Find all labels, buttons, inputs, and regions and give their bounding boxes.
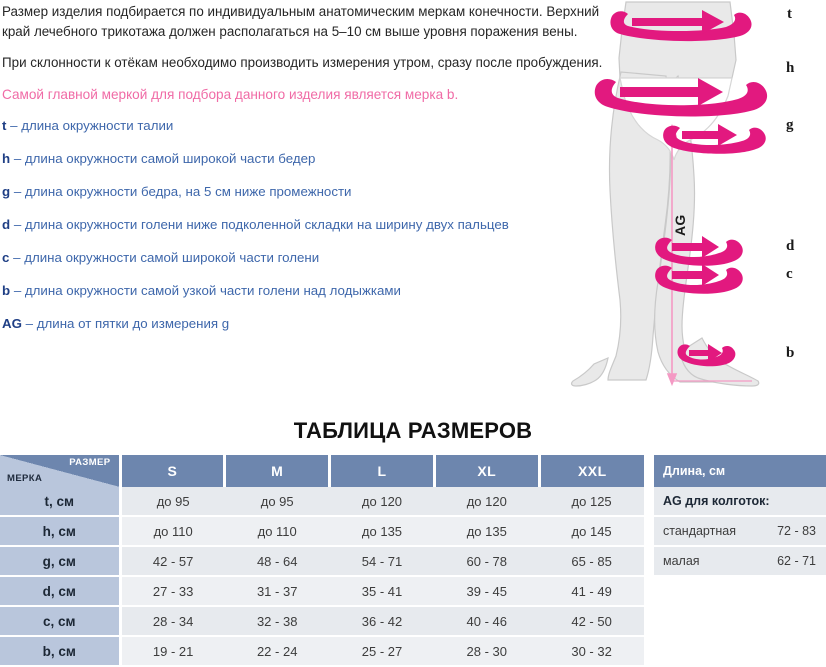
size-table-corner-cell: РАЗМЕР МЕРКА <box>0 455 120 487</box>
size-guide-page: Размер изделия подбирается по индивидуал… <box>0 0 826 656</box>
legend-key-t: t <box>2 118 6 133</box>
cell-g-l: 54 - 71 <box>330 546 435 576</box>
legend-key-c: c <box>2 250 9 265</box>
legend-key-b: b <box>2 283 10 298</box>
figure-label-d: d <box>786 238 794 255</box>
legend-text-b: – длина окружности самой узкой части гол… <box>14 283 401 298</box>
cell-c-xl: 40 - 46 <box>434 606 539 636</box>
table-row: h, см до 110 до 110 до 135 до 135 до 145 <box>0 516 644 546</box>
row-label-b: b, см <box>0 636 120 666</box>
table-row: t, см до 95 до 95 до 120 до 120 до 125 <box>0 487 644 516</box>
length-value-standard: 72 - 83 <box>762 516 826 546</box>
legend-text-c: – длина окружности самой широкой части г… <box>13 250 319 265</box>
legend-key-d: d <box>2 217 10 232</box>
corner-label-razmer: РАЗМЕР <box>69 457 110 468</box>
cell-h-m: до 110 <box>225 516 330 546</box>
cell-t-l: до 120 <box>330 487 435 516</box>
cell-d-l: 35 - 41 <box>330 576 435 606</box>
cell-t-m: до 95 <box>225 487 330 516</box>
cell-b-xxl: 30 - 32 <box>539 636 644 666</box>
size-column-header-s: S <box>120 455 225 487</box>
length-row-small: малая 62 - 71 <box>654 546 826 576</box>
cell-c-s: 28 - 34 <box>120 606 225 636</box>
size-column-header-xl: XL <box>434 455 539 487</box>
figure-label-b: b <box>786 345 794 362</box>
table-row: b, см 19 - 21 22 - 24 25 - 27 28 - 30 30… <box>0 636 644 666</box>
row-label-c: c, см <box>0 606 120 636</box>
row-label-t: t, см <box>0 487 120 516</box>
length-subtitle: AG для колготок: <box>654 487 826 516</box>
length-table-header-row: Длина, см <box>654 455 826 487</box>
cell-h-l: до 135 <box>330 516 435 546</box>
corner-label-merka: МЕРКА <box>7 473 42 484</box>
cell-g-s: 42 - 57 <box>120 546 225 576</box>
cell-t-xxl: до 125 <box>539 487 644 516</box>
length-label-small: малая <box>654 546 762 576</box>
cell-h-xxl: до 145 <box>539 516 644 546</box>
size-column-header-m: M <box>225 455 330 487</box>
row-label-h: h, см <box>0 516 120 546</box>
cell-d-m: 31 - 37 <box>225 576 330 606</box>
row-label-g: g, см <box>0 546 120 576</box>
cell-d-xxl: 41 - 49 <box>539 576 644 606</box>
body-silhouette <box>572 2 759 386</box>
length-table-header: Длина, см <box>654 455 826 487</box>
cell-g-xxl: 65 - 85 <box>539 546 644 576</box>
cell-d-s: 27 - 33 <box>120 576 225 606</box>
legend-key-h: h <box>2 151 10 166</box>
cell-c-xxl: 42 - 50 <box>539 606 644 636</box>
length-label-standard: стандартная <box>654 516 762 546</box>
legend-text-ag: – длина от пятки до измерения g <box>26 316 230 331</box>
row-label-d: d, см <box>0 576 120 606</box>
size-column-header-l: L <box>330 455 435 487</box>
legend-text-h: – длина окружности самой широкой части б… <box>14 151 316 166</box>
cell-t-s: до 95 <box>120 487 225 516</box>
table-row: g, см 42 - 57 48 - 64 54 - 71 60 - 78 65… <box>0 546 644 576</box>
page-title: ТАБЛИЦА РАЗМЕРОВ <box>0 418 826 444</box>
size-table: РАЗМЕР МЕРКА S M L XL XXL t, см до 95 до… <box>0 455 644 667</box>
table-row: c, см 28 - 34 32 - 38 36 - 42 40 - 46 42… <box>0 606 644 636</box>
cell-g-m: 48 - 64 <box>225 546 330 576</box>
cell-c-l: 36 - 42 <box>330 606 435 636</box>
figure-label-t: t <box>787 6 792 23</box>
cell-h-xl: до 135 <box>434 516 539 546</box>
cell-g-xl: 60 - 78 <box>434 546 539 576</box>
cell-d-xl: 39 - 45 <box>434 576 539 606</box>
table-row: d, см 27 - 33 31 - 37 35 - 41 39 - 45 41… <box>0 576 644 606</box>
cell-b-xl: 28 - 30 <box>434 636 539 666</box>
legend-text-d: – длина окружности голени ниже подколенн… <box>14 217 509 232</box>
cell-b-s: 19 - 21 <box>120 636 225 666</box>
length-table: Длина, см AG для колготок: стандартная 7… <box>654 455 826 577</box>
length-subtitle-row: AG для колготок: <box>654 487 826 516</box>
legend-key-ag: AG <box>2 316 22 331</box>
body-measurement-diagram: t h g d c b <box>520 0 826 400</box>
legend-text-g: – длина окружности бедра, на 5 см ниже п… <box>14 184 352 199</box>
cell-t-xl: до 120 <box>434 487 539 516</box>
length-row-standard: стандартная 72 - 83 <box>654 516 826 546</box>
cell-b-l: 25 - 27 <box>330 636 435 666</box>
body-silhouette-svg <box>520 0 826 400</box>
legend-key-g: g <box>2 184 10 199</box>
cell-c-m: 32 - 38 <box>225 606 330 636</box>
figure-label-c: c <box>786 266 793 283</box>
figure-label-g: g <box>786 117 794 134</box>
size-table-header-row: РАЗМЕР МЕРКА S M L XL XXL <box>0 455 644 487</box>
size-column-header-xxl: XXL <box>539 455 644 487</box>
cell-b-m: 22 - 24 <box>225 636 330 666</box>
legend-text-t: – длина окружности талии <box>10 118 173 133</box>
figure-label-h: h <box>786 60 794 77</box>
cell-h-s: до 110 <box>120 516 225 546</box>
figure-label-ag: AG <box>672 214 688 236</box>
length-value-small: 62 - 71 <box>762 546 826 576</box>
